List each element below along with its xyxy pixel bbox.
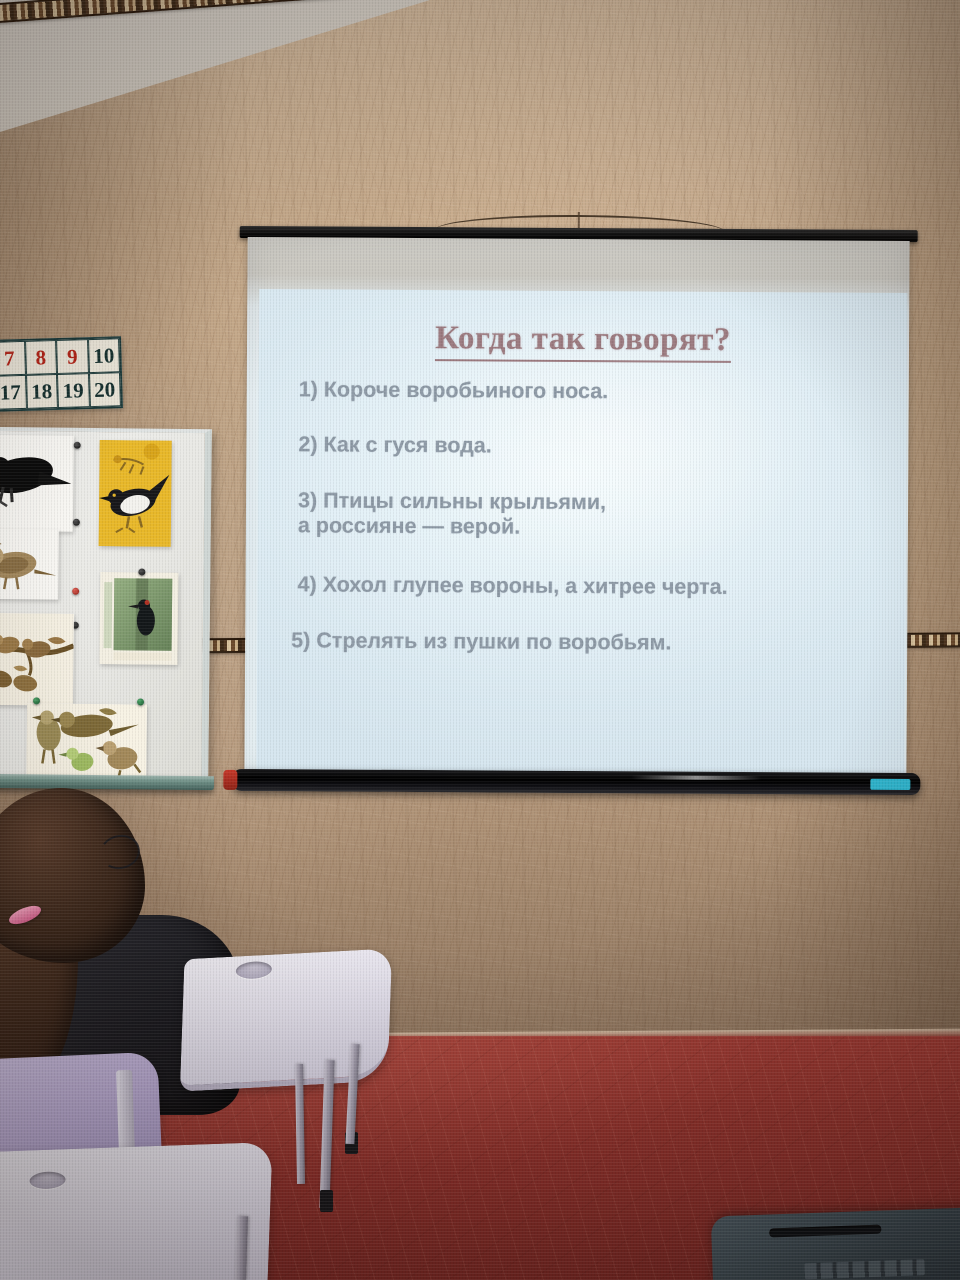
screen-brand-label (870, 779, 910, 790)
desk-cup-notch-2 (29, 1171, 66, 1189)
woodpecker-icon (99, 572, 178, 665)
magpie-illustration (99, 440, 172, 547)
desk-leg-foot-1 (320, 1190, 333, 1212)
number-cell-8: 8 (25, 340, 57, 375)
magnet-black-1 (74, 442, 81, 449)
number-cell-17: 17 (0, 375, 26, 410)
magnet-red-1 (72, 588, 79, 595)
number-cell-18: 18 (26, 374, 58, 409)
slide-list-item-3: 3) Птицы сильны крыльями, а россияне — в… (298, 488, 888, 542)
screen-bar-highlight (631, 775, 761, 780)
magnet-green-2 (137, 698, 144, 705)
projected-slide: Когда так говорят? 1) Короче воробьиного… (256, 289, 907, 774)
number-cell-19: 19 (57, 373, 89, 408)
device-slot (769, 1225, 881, 1238)
lark-icon (0, 529, 59, 600)
magnet-black-3 (138, 568, 145, 575)
number-cell-7: 7 (0, 341, 26, 376)
magpie-icon (99, 440, 172, 547)
slide-title-text: Когда так говорят? (435, 320, 731, 363)
screen-bottom-bar[interactable] (232, 769, 920, 795)
number-chart: 7 8 9 10 17 18 19 20 (0, 336, 123, 412)
number-cell-20: 20 (88, 372, 120, 407)
number-cell-9: 9 (56, 339, 88, 374)
slide-list-item-5: 5) Стрелять из пушки по воробьям. (291, 628, 887, 657)
whiteboard (0, 427, 212, 789)
whiteboard-tray (0, 774, 214, 790)
sparrows-branch-icon (0, 613, 74, 706)
magnet-black-2 (73, 519, 80, 526)
woodpecker-illustration (99, 572, 178, 665)
dark-grey-device (711, 1207, 960, 1280)
desk-leg-4 (235, 1216, 248, 1280)
lark-illustration (0, 529, 59, 600)
sparrows-branch-illustration (0, 613, 74, 706)
crow-illustration (0, 435, 74, 532)
projection-screen: Когда так говорят? 1) Короче воробьиного… (236, 226, 917, 800)
device-keys (804, 1259, 924, 1279)
desk-front (180, 948, 392, 1091)
magnet-green-1 (33, 697, 40, 704)
slide-title: Когда так говорят? (259, 319, 907, 360)
slide-list-item-2: 2) Как с гуся вода. (298, 433, 888, 462)
classroom-scene: 7 8 9 10 17 18 19 20 (0, 0, 960, 1280)
slide-list-item-1: 1) Короче воробьиного носа. (299, 377, 889, 406)
birds-group-illustration (26, 703, 147, 780)
crow-icon (0, 435, 74, 532)
screen-fabric: Когда так говорят? 1) Короче воробьиного… (244, 237, 909, 773)
desk-cup-notch-1 (236, 961, 273, 980)
desk-near (0, 1142, 273, 1280)
slide-list-item-4: 4) Хохол глупее вороны, а хитрее черта. (297, 573, 887, 602)
slide-list: 1) Короче воробьиного носа. 2) Как с гус… (297, 377, 889, 687)
number-cell-10: 10 (88, 338, 120, 373)
birds-group-icon (26, 703, 147, 780)
screen-bar-end-cap (223, 770, 237, 790)
